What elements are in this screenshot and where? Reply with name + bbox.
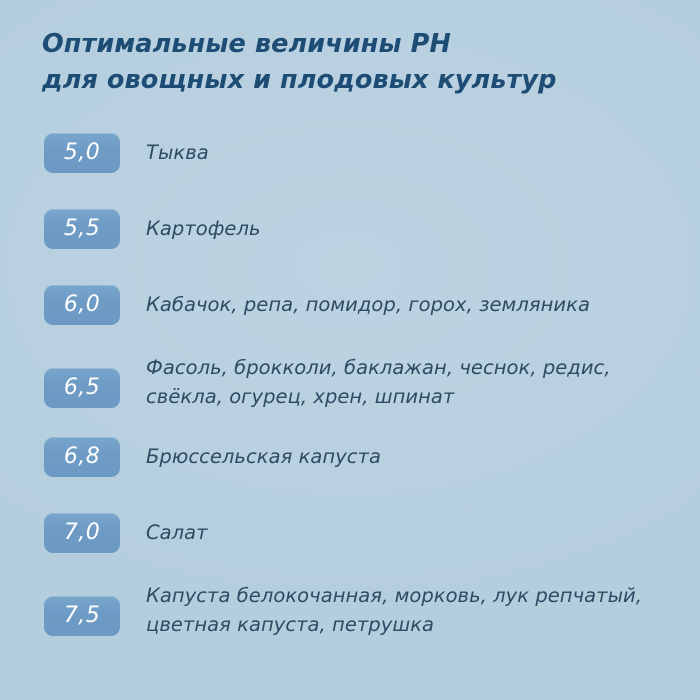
ph-value-list: 5,0 Тыква 5,5 Картофель 6,0 Кабачок, реп… <box>0 124 700 656</box>
ph-badge: 6,0 <box>44 285 120 325</box>
crop-label-line: Салат <box>146 518 691 547</box>
list-item: 6,8 Брюссельская капуста <box>0 428 700 504</box>
crop-label-line: Тыква <box>146 138 691 167</box>
ph-badge: 6,5 <box>44 368 120 408</box>
ph-badge: 6,8 <box>44 437 120 477</box>
list-item: 6,0 Кабачок, репа, помидор, горох, земля… <box>0 276 700 352</box>
ph-badge: 5,5 <box>44 209 120 249</box>
ph-badge: 7,5 <box>44 596 120 636</box>
ph-badge-value: 5,5 <box>64 218 100 241</box>
ph-badge: 5,0 <box>44 133 120 173</box>
crop-label: Брюссельская капуста <box>146 442 691 471</box>
infographic-poster: Оптимальные величины РН для овощных и пл… <box>0 0 700 700</box>
crop-label: Салат <box>146 518 691 547</box>
crop-label: Капуста белокочанная, морковь, лук репча… <box>146 581 691 639</box>
list-item: 7,0 Салат <box>0 504 700 580</box>
ph-badge-value: 7,5 <box>64 605 100 628</box>
crop-label-line: Кабачок, репа, помидор, горох, земляника <box>146 290 691 319</box>
ph-badge: 7,0 <box>44 513 120 553</box>
title-line-1: Оптимальные величины РН <box>42 26 662 62</box>
ph-badge-value: 6,0 <box>64 294 100 317</box>
crop-label: Фасоль, брокколи, баклажан, чеснок, реди… <box>146 353 691 411</box>
ph-badge-value: 7,0 <box>64 522 100 545</box>
ph-badge-value: 6,5 <box>64 377 100 400</box>
ph-badge-value: 5,0 <box>64 142 100 165</box>
crop-label-line: свёкла, огурец, хрен, шпинат <box>146 382 691 411</box>
crop-label-line: цветная капуста, петрушка <box>146 610 691 639</box>
list-item: 7,5 Капуста белокочанная, морковь, лук р… <box>0 580 700 656</box>
title-line-2: для овощных и плодовых культур <box>42 62 662 98</box>
ph-badge-value: 6,8 <box>64 446 100 469</box>
crop-label-line: Капуста белокочанная, морковь, лук репча… <box>146 581 691 610</box>
crop-label-line: Брюссельская капуста <box>146 442 691 471</box>
crop-label: Кабачок, репа, помидор, горох, земляника <box>146 290 691 319</box>
list-item: 5,5 Картофель <box>0 200 700 276</box>
crop-label-line: Фасоль, брокколи, баклажан, чеснок, реди… <box>146 353 691 382</box>
crop-label-line: Картофель <box>146 214 691 243</box>
crop-label: Картофель <box>146 214 691 243</box>
crop-label: Тыква <box>146 138 691 167</box>
list-item: 5,0 Тыква <box>0 124 700 200</box>
page-title: Оптимальные величины РН для овощных и пл… <box>42 26 662 98</box>
list-item: 6,5 Фасоль, брокколи, баклажан, чеснок, … <box>0 352 700 428</box>
